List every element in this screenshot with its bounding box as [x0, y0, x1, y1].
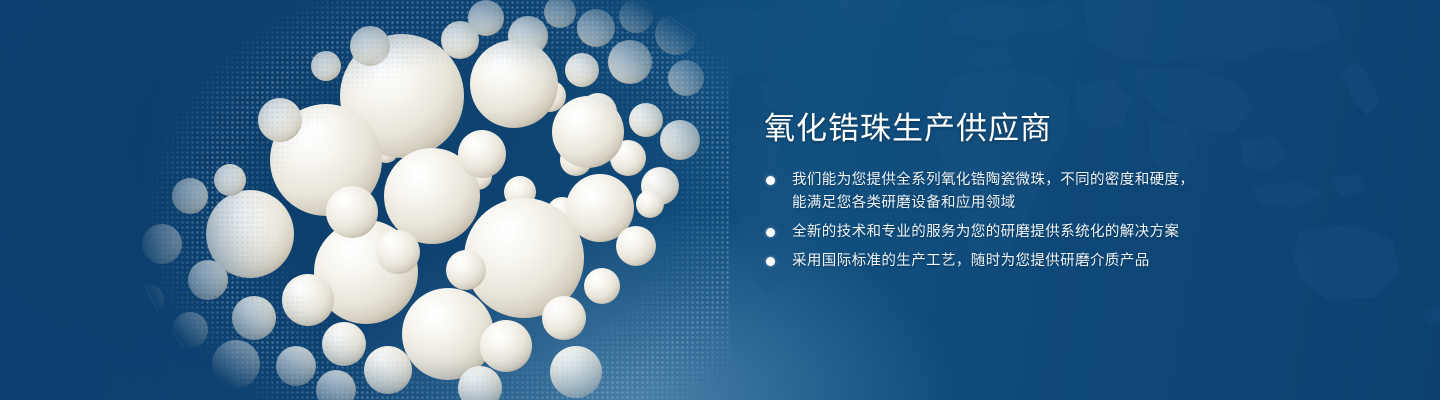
bullet-dot-icon [766, 228, 775, 237]
list-item: 全新的技术和专业的服务为您的研磨提供系统化的解决方案 [766, 221, 1206, 244]
list-item-label: 我们能为您提供全系列氧化锆陶瓷微珠，不同的密度和硬度，能满足您各类研磨设备和应用… [792, 172, 1194, 211]
list-item: 采用国际标准的生产工艺，随时为您提供研磨介质产品 [766, 250, 1206, 273]
list-item-label: 采用国际标准的生产工艺，随时为您提供研磨介质产品 [792, 253, 1150, 269]
bullet-dot-icon [766, 176, 775, 185]
page-title: 氧化锆珠生产供应商 [764, 110, 1052, 148]
feature-list: 我们能为您提供全系列氧化锆陶瓷微珠，不同的密度和硬度，能满足您各类研磨设备和应用… [766, 169, 1206, 279]
halftone-edge-pattern [130, 0, 730, 400]
bullet-dot-icon [766, 257, 775, 266]
banner-copy: 氧化锆珠生产供应商 我们能为您提供全系列氧化锆陶瓷微珠，不同的密度和硬度，能满足… [764, 0, 1284, 400]
hero-banner: 氧化锆珠生产供应商 我们能为您提供全系列氧化锆陶瓷微珠，不同的密度和硬度，能满足… [0, 0, 1440, 400]
list-item-label: 全新的技术和专业的服务为您的研磨提供系统化的解决方案 [792, 224, 1179, 240]
bead-photo-backdrop [130, 0, 730, 400]
zirconia-beads-image [130, 0, 730, 400]
list-item: 我们能为您提供全系列氧化锆陶瓷微珠，不同的密度和硬度，能满足您各类研磨设备和应用… [766, 169, 1206, 215]
